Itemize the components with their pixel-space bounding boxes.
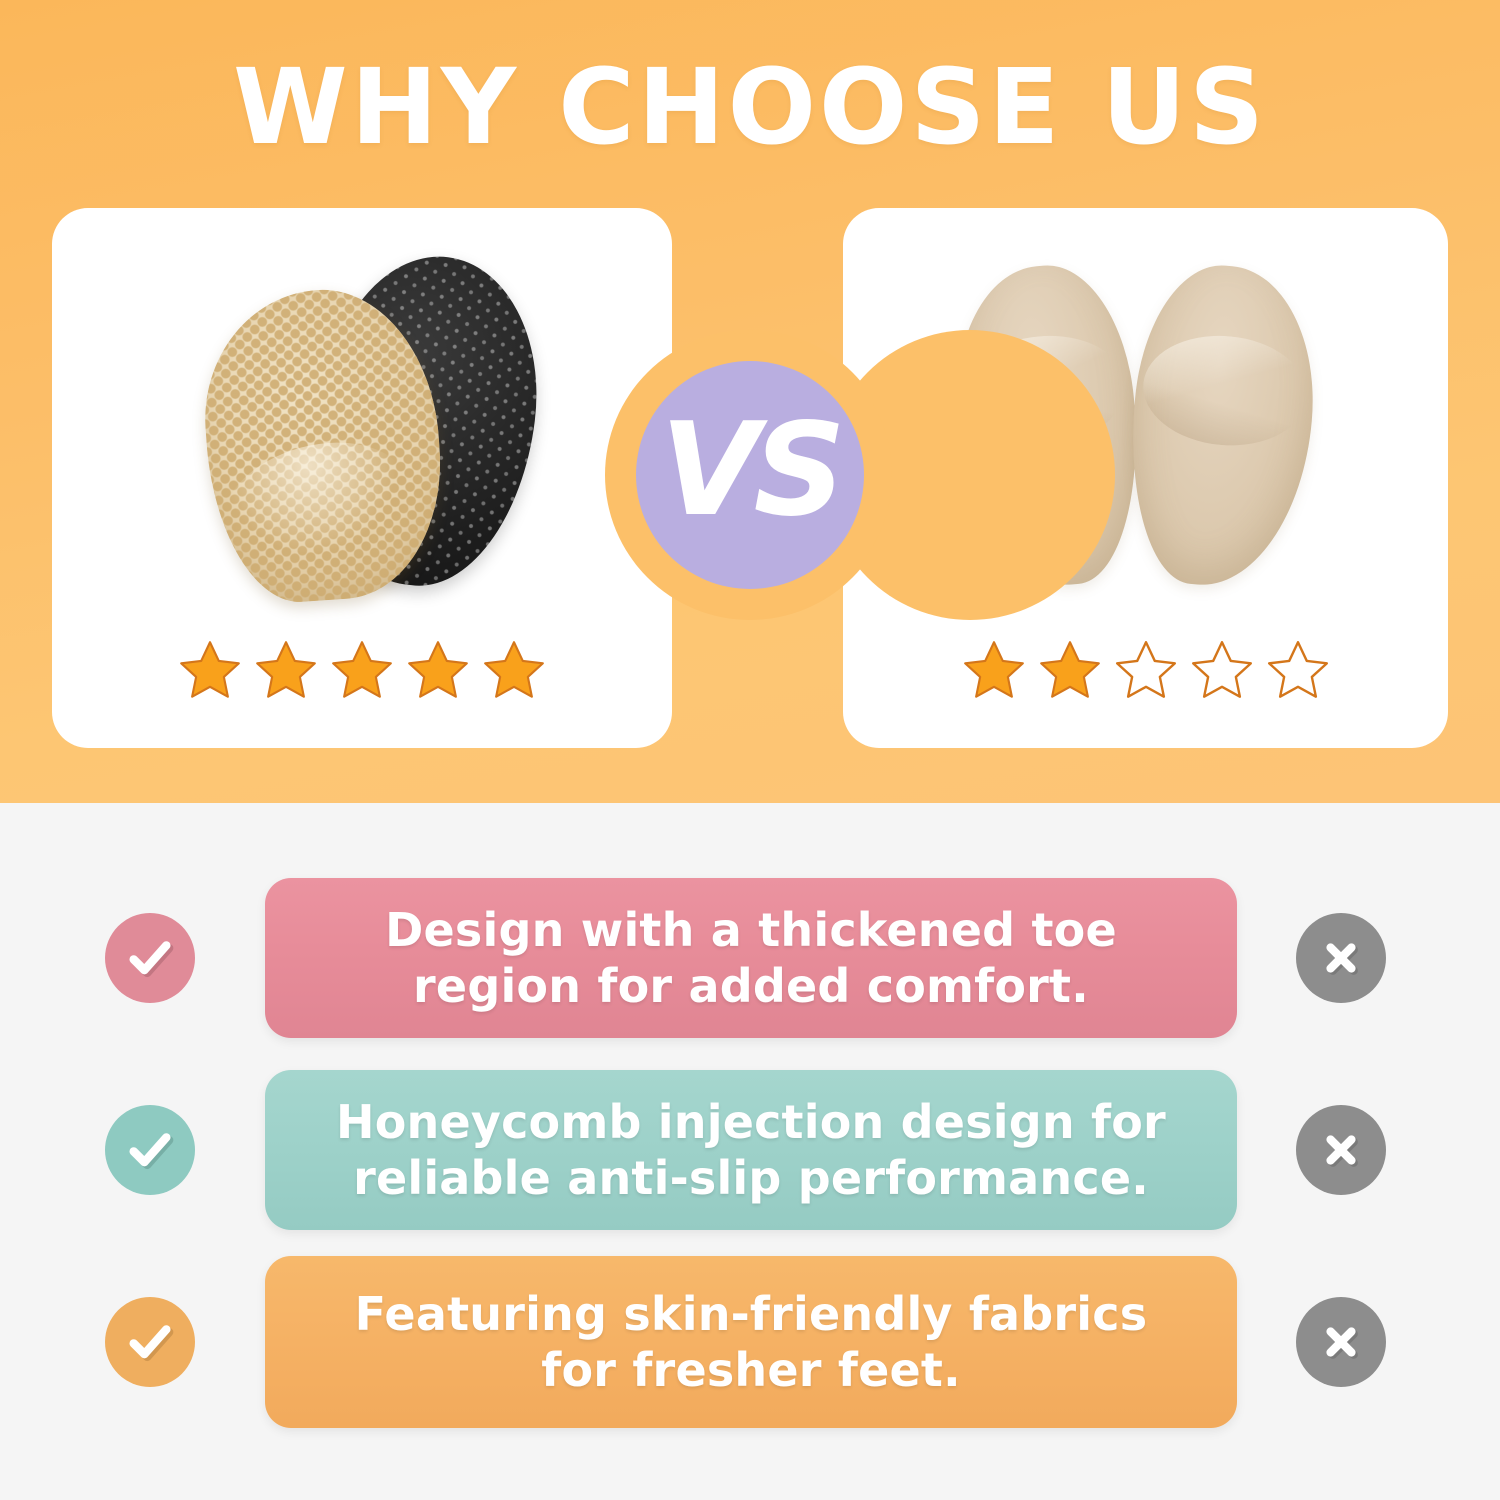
star-filled-icon [481,638,547,702]
rating-stars-left [52,638,672,702]
star-filled-icon [405,638,471,702]
cross-badge [1296,1297,1386,1387]
feature-text: Featuring skin-friendly fabrics for fres… [355,1286,1148,1398]
feature-text: Honeycomb injection design for reliable … [336,1094,1166,1206]
feature-bar: Design with a thickened toe region for a… [265,878,1237,1038]
feature-row: Design with a thickened toe region for a… [0,866,1500,1050]
feature-row: Honeycomb injection design for reliable … [0,1058,1500,1242]
star-filled-icon [329,638,395,702]
check-icon [122,930,178,986]
cross-badge [1296,913,1386,1003]
star-filled-icon [1037,638,1103,702]
feature-row: Featuring skin-friendly fabrics for fres… [0,1250,1500,1434]
star-empty-icon [1189,638,1255,702]
cross-icon [1316,933,1366,983]
hero-section: WHY CHOOSE US [0,0,1500,803]
cross-icon [1316,1317,1366,1367]
check-badge [105,913,195,1003]
page-title: WHY CHOOSE US [0,48,1500,166]
star-filled-icon [177,638,243,702]
check-icon [122,1122,178,1178]
star-filled-icon [253,638,319,702]
check-badge [105,1297,195,1387]
feature-bar: Featuring skin-friendly fabrics for fres… [265,1256,1237,1428]
star-empty-icon [1265,638,1331,702]
infographic-page: WHY CHOOSE US [0,0,1500,1500]
vs-badge-inner: VS [636,361,864,589]
product-image-left [52,238,672,618]
cross-badge [1296,1105,1386,1195]
beige-fabric-pad-right [1119,259,1324,593]
vs-label: VS [660,407,839,535]
comparison-card-left [52,208,672,748]
star-filled-icon [961,638,1027,702]
check-icon [122,1314,178,1370]
star-empty-icon [1113,638,1179,702]
cross-icon [1316,1125,1366,1175]
feature-bar: Honeycomb injection design for reliable … [265,1070,1237,1230]
rating-stars-right [843,638,1448,702]
vs-badge: VS [608,333,892,617]
feature-text: Design with a thickened toe region for a… [385,902,1117,1014]
feature-list: Design with a thickened toe region for a… [0,866,1500,1442]
check-badge [105,1105,195,1195]
